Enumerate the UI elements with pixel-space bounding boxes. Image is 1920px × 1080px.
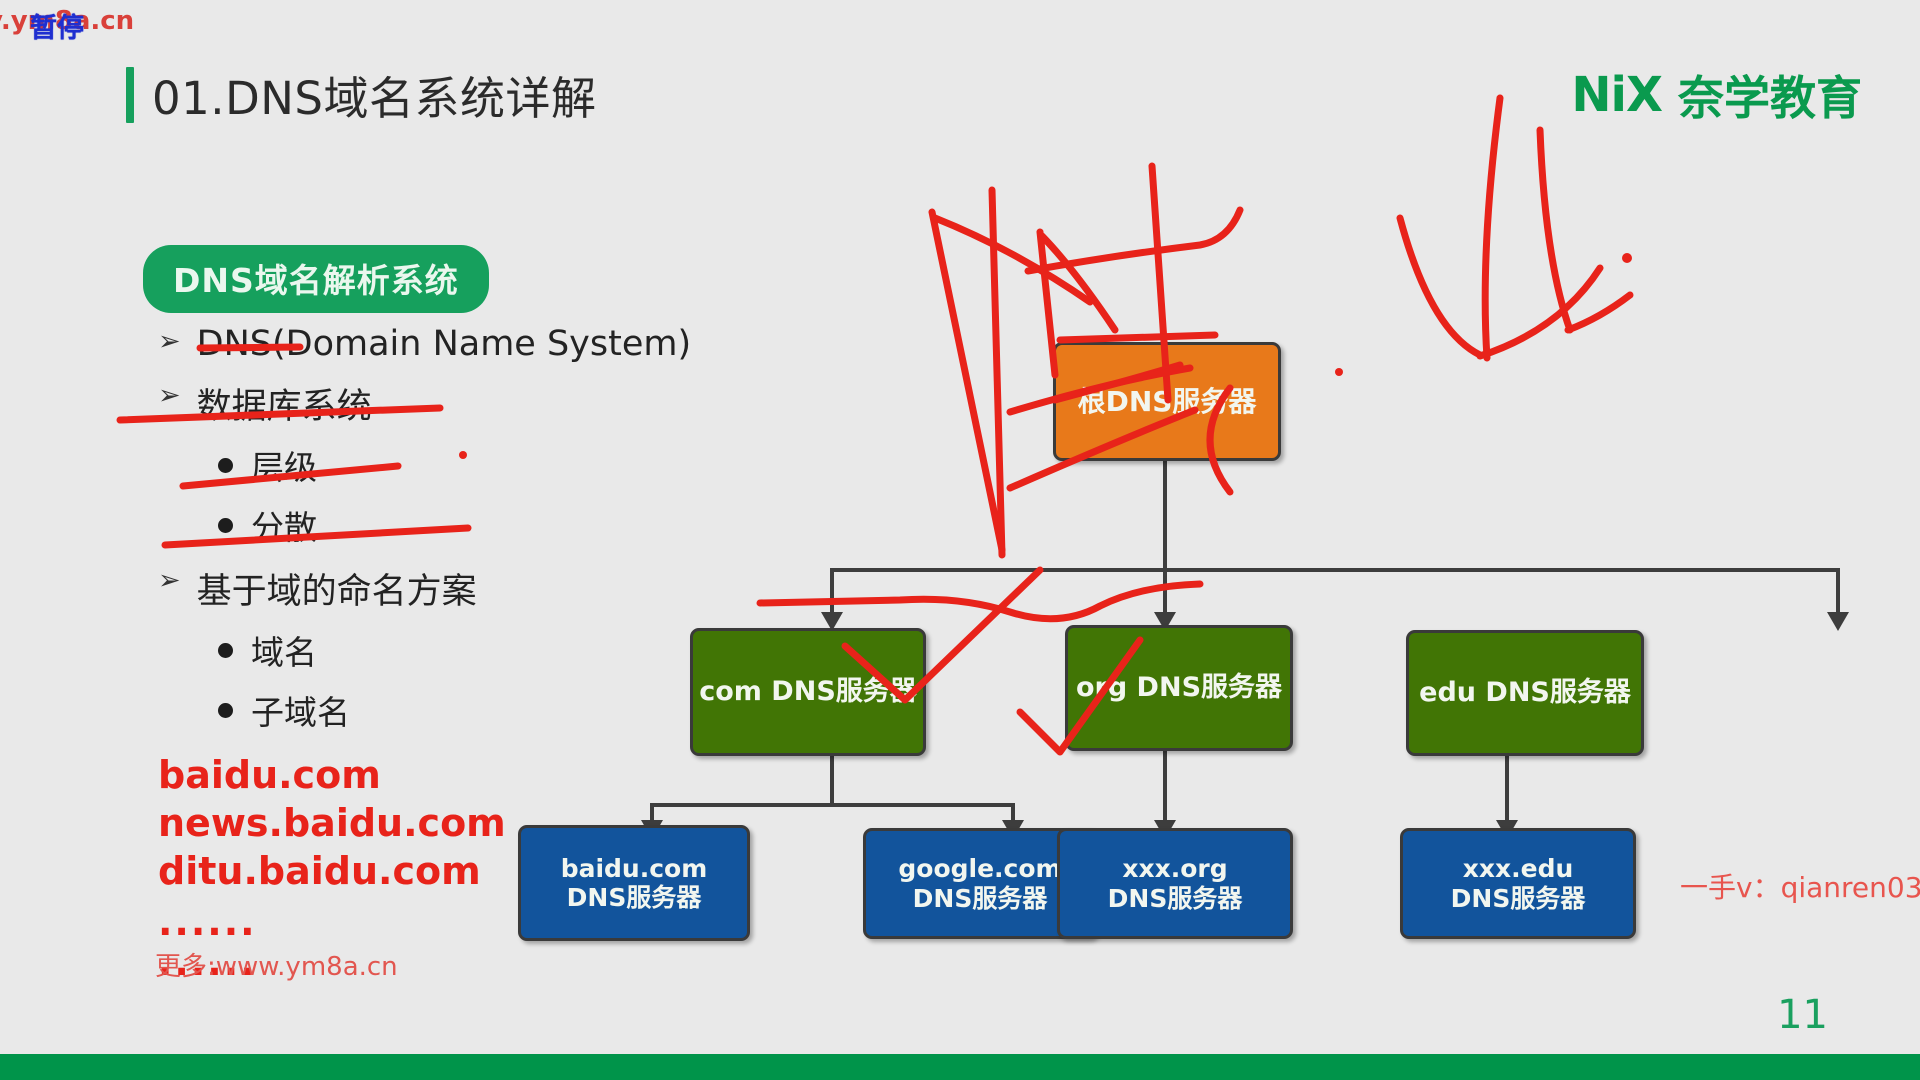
node-xxx-org-dns-server[interactable]: xxx.org DNS服务器 bbox=[1057, 828, 1293, 939]
connector-tld-drop-org bbox=[1163, 568, 1167, 618]
node-label-line1: xxx.edu bbox=[1463, 854, 1574, 883]
dns-hierarchy-diagram: 根DNS服务器 com DNS服务器 org DNS服务器 edu DNS服务器… bbox=[500, 350, 1900, 930]
node-label-line1: xxx.org bbox=[1122, 854, 1227, 883]
domain-examples: baidu.com news.baidu.com ditu.baidu.com bbox=[158, 752, 506, 896]
list-item-label: 基于域的命名方案 bbox=[197, 563, 477, 614]
connector-com-stem bbox=[830, 750, 834, 805]
watermark-contact: 一手v：qianren03 bbox=[1680, 866, 1920, 906]
stroke-shu-8 bbox=[1060, 335, 1215, 340]
bottom-accent-bar bbox=[0, 1054, 1920, 1080]
node-label-line2: DNS服务器 bbox=[1451, 884, 1586, 913]
stroke-v-4 bbox=[1540, 130, 1570, 330]
node-root-dns-server[interactable]: 根DNS服务器 bbox=[1053, 342, 1281, 461]
domain-example-item: baidu.com bbox=[158, 752, 506, 800]
arrow-bullet-icon: ➢ bbox=[158, 378, 181, 414]
slide-canvas: 01.DNS域名系统详解 NiX 奈学教育 v.ym8a.cn 暂停 DNS域名… bbox=[0, 0, 1920, 1080]
logo-cn-text: 奈学教育 bbox=[1678, 62, 1862, 128]
stroke-v-1 bbox=[1400, 218, 1480, 355]
watermark-more-url: 更多:www.ym8a.cn bbox=[155, 946, 398, 983]
list-item-label: 子域名 bbox=[251, 686, 350, 734]
node-label: baidu.com DNS服务器 bbox=[561, 854, 708, 913]
node-label: edu DNS服务器 bbox=[1419, 677, 1631, 709]
node-xxx-edu-dns-server[interactable]: xxx.edu DNS服务器 bbox=[1400, 828, 1636, 939]
node-label: com DNS服务器 bbox=[699, 676, 917, 708]
logo-mark-text: NiX bbox=[1571, 67, 1662, 123]
stroke-shu-3 bbox=[935, 218, 1090, 302]
list-item-label: 分散 bbox=[251, 501, 317, 549]
stroke-v-5 bbox=[1568, 295, 1630, 330]
arrow-head-edu bbox=[1827, 612, 1849, 631]
stroke-v-2 bbox=[1485, 98, 1500, 358]
connector-root-stem bbox=[1163, 455, 1167, 570]
stroke-shu-7 bbox=[1028, 210, 1240, 271]
brand-logo: NiX 奈学教育 bbox=[1571, 62, 1862, 128]
connector-tld-bus bbox=[830, 568, 1840, 572]
node-org-dns-server[interactable]: org DNS服务器 bbox=[1065, 625, 1293, 751]
node-baidu-dns-server[interactable]: baidu.com DNS服务器 bbox=[518, 825, 750, 941]
dot-bullet-icon bbox=[218, 518, 233, 533]
ellipsis-first: ...... bbox=[158, 900, 257, 944]
list-item-label: 层级 bbox=[251, 441, 317, 489]
title-accent-bar bbox=[126, 67, 134, 123]
node-label: org DNS服务器 bbox=[1076, 672, 1282, 704]
watermark-pause-label: 暂停 bbox=[30, 6, 84, 45]
page-title: 01.DNS域名系统详解 bbox=[126, 62, 596, 127]
connector-com-bus bbox=[650, 803, 1015, 807]
node-label: xxx.org DNS服务器 bbox=[1108, 854, 1243, 913]
page-number: 11 bbox=[1777, 992, 1828, 1038]
node-edu-dns-server[interactable]: edu DNS服务器 bbox=[1406, 630, 1644, 756]
section-pill: DNS域名解析系统 bbox=[143, 245, 489, 313]
ink-dot-3 bbox=[1622, 253, 1632, 263]
connector-tld-drop-com bbox=[830, 568, 834, 618]
node-label-line1: baidu.com bbox=[561, 854, 708, 883]
node-label: 根DNS服务器 bbox=[1078, 385, 1257, 418]
dot-bullet-icon bbox=[218, 458, 233, 473]
arrow-bullet-icon: ➢ bbox=[158, 563, 181, 599]
node-label-line2: DNS服务器 bbox=[1108, 884, 1243, 913]
dot-bullet-icon bbox=[218, 703, 233, 718]
node-com-dns-server[interactable]: com DNS服务器 bbox=[690, 628, 926, 756]
node-label-line1: google.com bbox=[898, 854, 1061, 883]
node-label-line2: DNS服务器 bbox=[913, 884, 1048, 913]
connector-edu-stem bbox=[1505, 750, 1509, 825]
node-label-line2: DNS服务器 bbox=[567, 883, 702, 912]
list-item-label: 数据库系统 bbox=[197, 378, 372, 429]
connector-org-stem bbox=[1163, 745, 1167, 825]
title-label: 01.DNS域名系统详解 bbox=[152, 62, 596, 127]
domain-example-item: ditu.baidu.com bbox=[158, 848, 506, 896]
domain-example-item: news.baidu.com bbox=[158, 800, 506, 848]
list-item-label: 域名 bbox=[251, 626, 317, 674]
node-label: xxx.edu DNS服务器 bbox=[1451, 854, 1586, 913]
stroke-shu-5 bbox=[1042, 236, 1115, 330]
dot-bullet-icon bbox=[218, 643, 233, 658]
node-label: google.com DNS服务器 bbox=[898, 854, 1061, 913]
connector-tld-drop-edu bbox=[1836, 568, 1840, 618]
stroke-v-3 bbox=[1480, 268, 1600, 356]
arrow-bullet-icon: ➢ bbox=[158, 324, 181, 360]
